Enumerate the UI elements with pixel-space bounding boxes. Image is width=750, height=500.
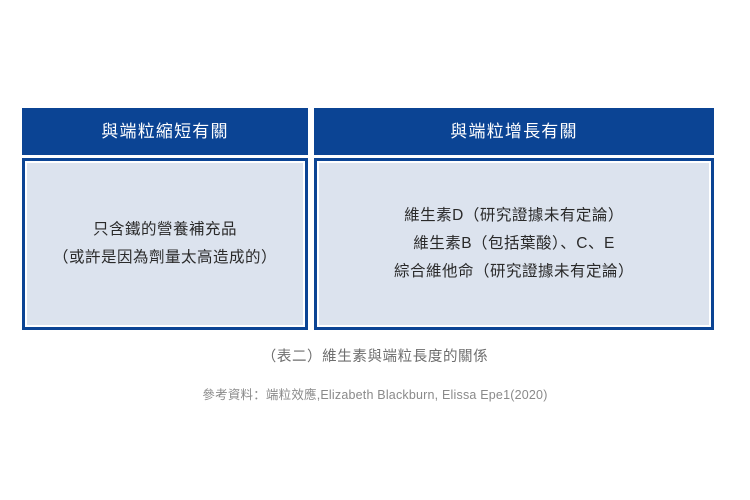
table-body-row: 只含鐵的營養補充品 （或許是因為劑量太高造成的） 維生素D（研究證據未有定論） … (22, 158, 714, 330)
figure-caption: （表二）維生素與端粒長度的關係 (0, 345, 750, 366)
table-body-cell-lengthening: 維生素D（研究證據未有定論） 維生素B（包括葉酸）、C、E 綜合維他命（研究證據… (314, 158, 714, 330)
cell-line: 維生素D（研究證據未有定論） (404, 202, 624, 230)
table-header-cell-shortening: 與端粒縮短有關 (22, 108, 308, 155)
page-canvas: 與端粒縮短有關 與端粒增長有關 只含鐵的營養補充品 （或許是因為劑量太高造成的）… (0, 0, 750, 500)
figure-source-citation: 參考資料：端粒效應,Elizabeth Blackburn, Elissa Ep… (0, 384, 750, 403)
table-header-label-shortening: 與端粒縮短有關 (101, 123, 228, 140)
table-header-label-lengthening: 與端粒增長有關 (450, 123, 577, 140)
table-body-cell-shortening: 只含鐵的營養補充品 （或許是因為劑量太高造成的） (22, 158, 308, 330)
table-header-cell-lengthening: 與端粒增長有關 (314, 108, 714, 155)
cell-line: 維生素B（包括葉酸）、C、E (413, 230, 615, 258)
cell-line: （或許是因為劑量太高造成的） (53, 244, 277, 272)
table-header-row: 與端粒縮短有關 與端粒增長有關 (22, 108, 714, 155)
cell-line: 只含鐵的營養補充品 (93, 216, 237, 244)
cell-line: 綜合維他命（研究證據未有定論） (394, 258, 634, 286)
vitamin-telomere-table: 與端粒縮短有關 與端粒增長有關 只含鐵的營養補充品 （或許是因為劑量太高造成的）… (22, 108, 714, 330)
